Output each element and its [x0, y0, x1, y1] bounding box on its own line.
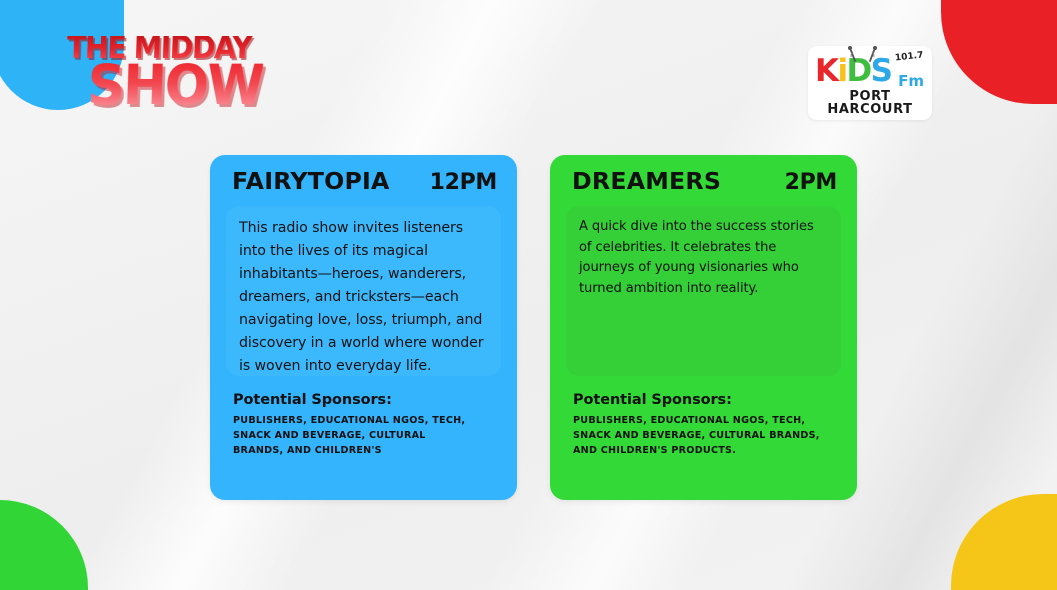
kids-fm-letter-i: i [837, 51, 846, 91]
show-card-fairytopia[interactable]: FAIRYTOPIA 12PM This radio show invites … [210, 155, 517, 500]
card-title-fairytopia: FAIRYTOPIA [232, 169, 390, 195]
sponsors-list-dreamers: PUBLISHERS, EDUCATIONAL NGOS, TECH, SNAC… [573, 413, 841, 458]
card-time-dreamers: 2PM [785, 170, 837, 195]
kids-fm-city-label: PORT HARCOURT [815, 90, 925, 116]
card-description-text-fairytopia: This radio show invites listeners into t… [239, 217, 487, 378]
card-description-box-dreamers: A quick dive into the success stories of… [566, 206, 841, 376]
card-sponsors-fairytopia: Potential Sponsors: PUBLISHERS, EDUCATIO… [226, 392, 501, 458]
kids-fm-station-logo: KiDS 101.7 Fm PORT HARCOURT [808, 46, 932, 120]
card-header-dreamers: DREAMERS 2PM [566, 169, 841, 199]
midday-show-logo-line2: SHOW [87, 63, 264, 107]
card-description-text-dreamers: A quick dive into the success stories of… [579, 217, 827, 299]
card-header-fairytopia: FAIRYTOPIA 12PM [226, 169, 501, 199]
show-card-dreamers[interactable]: DREAMERS 2PM A quick dive into the succe… [550, 155, 857, 500]
card-title-dreamers: DREAMERS [572, 169, 721, 195]
card-description-box-fairytopia: This radio show invites listeners into t… [226, 206, 501, 376]
card-time-fairytopia: 12PM [430, 170, 497, 195]
sponsors-heading-fairytopia: Potential Sponsors: [233, 392, 501, 408]
antenna-icon [848, 46, 878, 62]
midday-show-logo: THE MIDDAY SHOW [65, 36, 274, 107]
sponsors-heading-dreamers: Potential Sponsors: [573, 392, 841, 408]
kids-fm-logo-top: KiDS 101.7 Fm [815, 51, 925, 91]
card-sponsors-dreamers: Potential Sponsors: PUBLISHERS, EDUCATIO… [566, 392, 841, 458]
kids-fm-letter-k: K [815, 51, 837, 91]
sponsors-list-fairytopia: PUBLISHERS, EDUCATIONAL NGOS, TECH, SNAC… [233, 413, 471, 458]
kids-fm-fm-mark: Fm [898, 74, 924, 89]
